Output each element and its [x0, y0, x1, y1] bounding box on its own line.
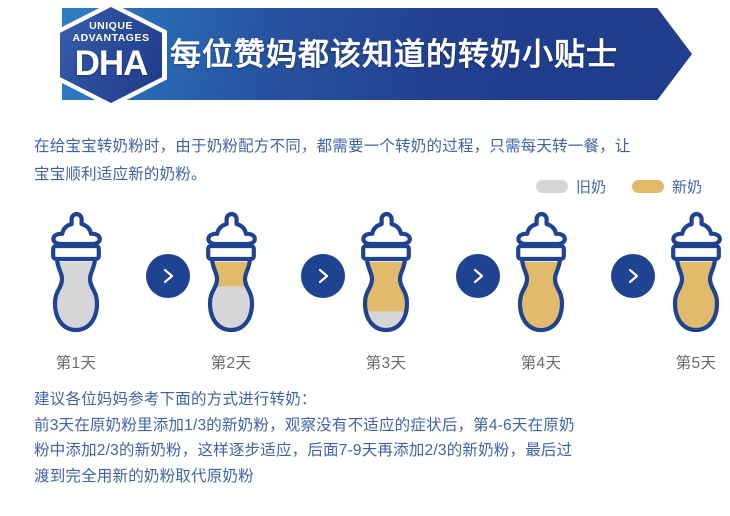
bottle-collar [208, 246, 254, 259]
legend-swatch-new-milk [632, 180, 664, 193]
bottle-collar [518, 246, 564, 259]
badge-acronym-dha: DHA [55, 44, 167, 84]
bottle-nipple [673, 214, 719, 244]
chevron-right-icon [313, 266, 333, 286]
liquid-old-milk [30, 262, 122, 336]
header-banner: 每位赞妈都该知道的转奶小贴士 UNIQUE ADVANTAGES DHA [0, 0, 730, 110]
step-arrow-2 [301, 254, 345, 298]
legend-item-old-milk: 旧奶 [536, 176, 606, 197]
legend: 旧奶 新奶 [536, 176, 702, 197]
bottle-day-2: 第2天 [185, 208, 277, 373]
instructions-line-3: 粉中添加2/3的新奶粉，这样逐步适应，后面7-9天再添加2/3的新奶粉，最后过 [34, 438, 702, 464]
bottle-liquid-group [30, 262, 122, 336]
liquid-new-milk [340, 262, 432, 312]
bottle-icon [30, 208, 122, 348]
bottle-collar [363, 246, 409, 259]
liquid-new-milk [495, 262, 587, 327]
bottle-day-label: 第1天 [30, 351, 122, 373]
bottle-day-5: 第5天 [650, 208, 730, 373]
bottle-nipple [518, 214, 564, 244]
chevron-right-icon [468, 266, 488, 286]
bottle-nipple [363, 214, 409, 244]
bottle-day-label: 第4天 [495, 351, 587, 373]
legend-item-new-milk: 新奶 [632, 176, 702, 197]
bottle-day-label: 第3天 [340, 351, 432, 373]
bottle-day-4: 第4天 [495, 208, 587, 373]
instructions-line-2: 前3天在原奶粉里添加1/3的新奶粉，观察没有不适应的症状后，第4-6天在原奶 [34, 413, 702, 439]
bottle-icon [650, 208, 730, 348]
bottle-liquid-group [495, 262, 587, 336]
bottle-day-label: 第5天 [650, 351, 730, 373]
chevron-right-icon [623, 266, 643, 286]
bottle-sequence: 第1天 第2天 [30, 208, 702, 368]
bottle-collar [53, 246, 99, 259]
chevron-right-icon [158, 266, 178, 286]
bottle-icon [340, 208, 432, 348]
bottle-liquid-group [340, 262, 432, 336]
bottle-liquid-group [185, 262, 277, 336]
bottle-icon [185, 208, 277, 348]
instructions-block: 建议各位妈妈参考下面的方式进行转奶： 前3天在原奶粉里添加1/3的新奶粉，观察没… [34, 387, 702, 489]
step-arrow-3 [456, 254, 500, 298]
step-arrow-1 [146, 254, 190, 298]
liquid-old-milk [340, 312, 432, 336]
liquid-new-milk [185, 262, 277, 286]
badge-line-unique: UNIQUE [55, 20, 167, 32]
instructions-line-4: 渡到完全用新的奶粉取代原奶粉 [34, 464, 702, 490]
legend-swatch-old-milk [536, 180, 568, 193]
instructions-line-1: 建议各位妈妈参考下面的方式进行转奶： [34, 387, 702, 413]
page-title: 每位赞妈都该知道的转奶小贴士 [170, 29, 670, 74]
bottle-icon [495, 208, 587, 348]
legend-label-new-milk: 新奶 [672, 176, 702, 197]
bottle-day-3: 第3天 [340, 208, 432, 373]
badge-line-advantages: ADVANTAGES [55, 32, 167, 44]
dha-badge: UNIQUE ADVANTAGES DHA [55, 2, 167, 108]
bottle-collar [673, 246, 719, 259]
bottle-nipple [53, 214, 99, 244]
legend-label-old-milk: 旧奶 [576, 176, 606, 197]
step-arrow-4 [611, 254, 655, 298]
bottle-day-label: 第2天 [185, 351, 277, 373]
bottle-day-1: 第1天 [30, 208, 122, 373]
infographic-page: 每位赞妈都该知道的转奶小贴士 UNIQUE ADVANTAGES DHA 在给宝… [0, 0, 730, 516]
bottle-nipple [208, 214, 254, 244]
